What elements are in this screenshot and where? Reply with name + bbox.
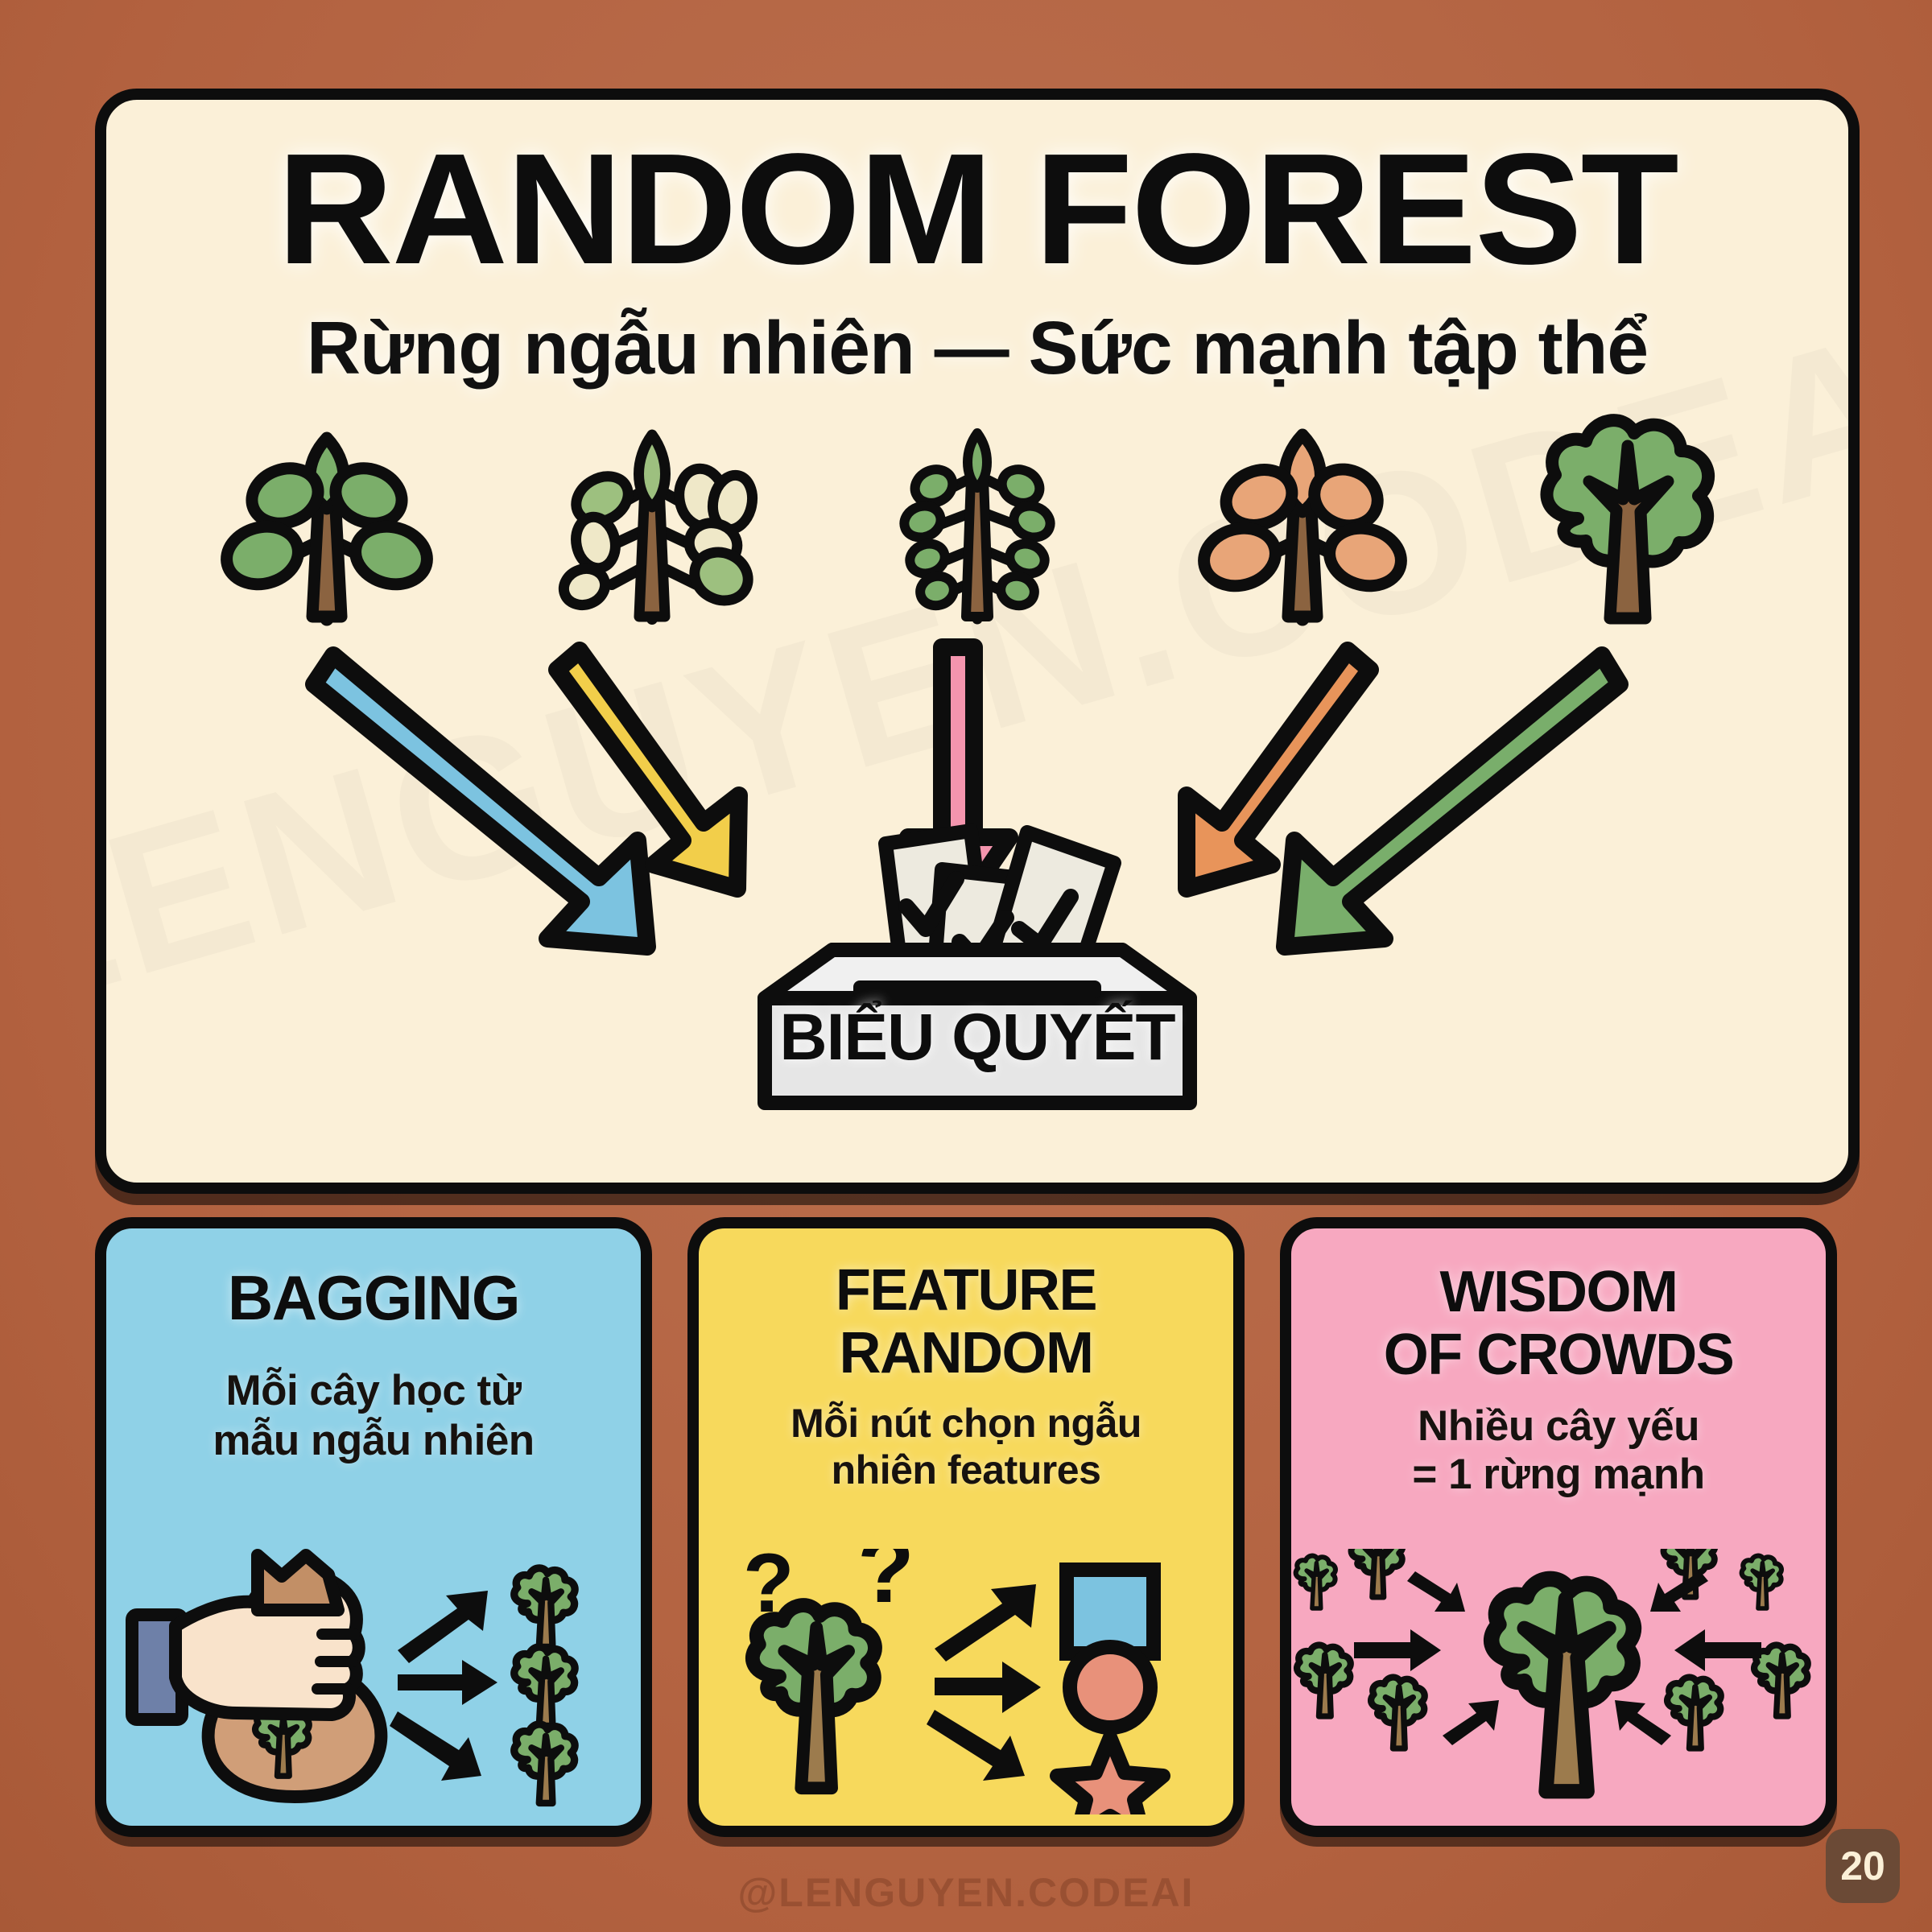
tree-full-canopy: [1507, 398, 1748, 631]
card-feature-title-line1: FEATURE: [699, 1262, 1233, 1319]
trees-row: [106, 398, 1848, 631]
card-feature-art: ? ?: [699, 1549, 1233, 1814]
card-bagging-art: [106, 1517, 641, 1814]
card-feature-random[interactable]: FEATURE RANDOM Mỗi nút chọn ngẫu nhiên f…: [687, 1217, 1245, 1837]
bagging-arrows: [390, 1591, 497, 1781]
card-feature-subtitle-line2: nhiên features: [699, 1447, 1233, 1493]
arrow-green: [1285, 655, 1620, 947]
bag-neck: [258, 1555, 338, 1610]
ballot-box: BIỂU QUYẾT: [687, 800, 1267, 1118]
card-bagging-title: BAGGING: [106, 1267, 641, 1328]
tree-icon-r4: [1667, 1678, 1721, 1748]
question-mark-icon-2: ?: [857, 1549, 914, 1622]
card-wisdom-title-line2: OF CROWDS: [1291, 1327, 1826, 1384]
card-wisdom-of-crowds[interactable]: WISDOM OF CROWDS Nhiều cây yếu = 1 rừng …: [1280, 1217, 1837, 1837]
tree-icon-r1: [1742, 1556, 1781, 1608]
hero-panel: LENGUYEN.CODEAI RANDOM FOREST Rừng ngẫu …: [95, 89, 1860, 1194]
tree-icon-3: [514, 1724, 575, 1803]
card-feature-title-line2: RANDOM: [699, 1325, 1233, 1382]
tree-green-leaves: [206, 398, 448, 631]
card-bagging[interactable]: BAGGING Mỗi cây học từ mẫu ngẫu nhiên: [95, 1217, 652, 1837]
card-bagging-subtitle-line2: mẫu ngẫu nhiên: [106, 1417, 641, 1465]
tree-icon-l2: [1352, 1549, 1403, 1597]
circle-icon: [1070, 1647, 1150, 1728]
page-subtitle: Rừng ngẫu nhiên — Sức mạnh tập thể: [106, 311, 1848, 386]
star-icon: [1057, 1737, 1163, 1814]
ballot-label: BIỂU QUYẾT: [687, 1000, 1267, 1075]
box-slot: [853, 980, 1101, 998]
footer-watermark: @LENGUYEN.CODEAI: [0, 1869, 1932, 1916]
tree-icon-1: [514, 1568, 575, 1647]
card-wisdom-title-line1: WISDOM: [1291, 1264, 1826, 1321]
cards-row: BAGGING Mỗi cây học từ mẫu ngẫu nhiên: [95, 1217, 1837, 1837]
tree-icon-l1: [1296, 1556, 1335, 1608]
big-tree-icon: [1492, 1579, 1634, 1791]
tree-icon: [753, 1605, 875, 1788]
card-feature-subtitle-line1: Mỗi nút chọn ngẫu: [699, 1401, 1233, 1447]
feature-arrows: [927, 1584, 1041, 1781]
tree-icon-l3: [1297, 1645, 1351, 1716]
tree-icon-r3: [1754, 1645, 1808, 1716]
tree-icon-l4: [1371, 1678, 1425, 1748]
tree-orange-leaves: [1182, 398, 1423, 631]
card-bagging-subtitle-line1: Mỗi cây học từ: [106, 1367, 641, 1415]
page-number-badge: 20: [1826, 1829, 1900, 1903]
tree-mixed-leaves: [531, 398, 773, 631]
page-title: RANDOM FOREST: [95, 130, 1860, 288]
card-wisdom-art: [1291, 1549, 1826, 1814]
card-wisdom-subtitle-line2: = 1 rừng mạnh: [1291, 1451, 1826, 1499]
tree-icon-2: [514, 1647, 575, 1726]
arrow-blue: [314, 655, 647, 947]
tree-small-leaves: [857, 398, 1098, 631]
card-wisdom-subtitle-line1: Nhiều cây yếu: [1291, 1402, 1826, 1451]
